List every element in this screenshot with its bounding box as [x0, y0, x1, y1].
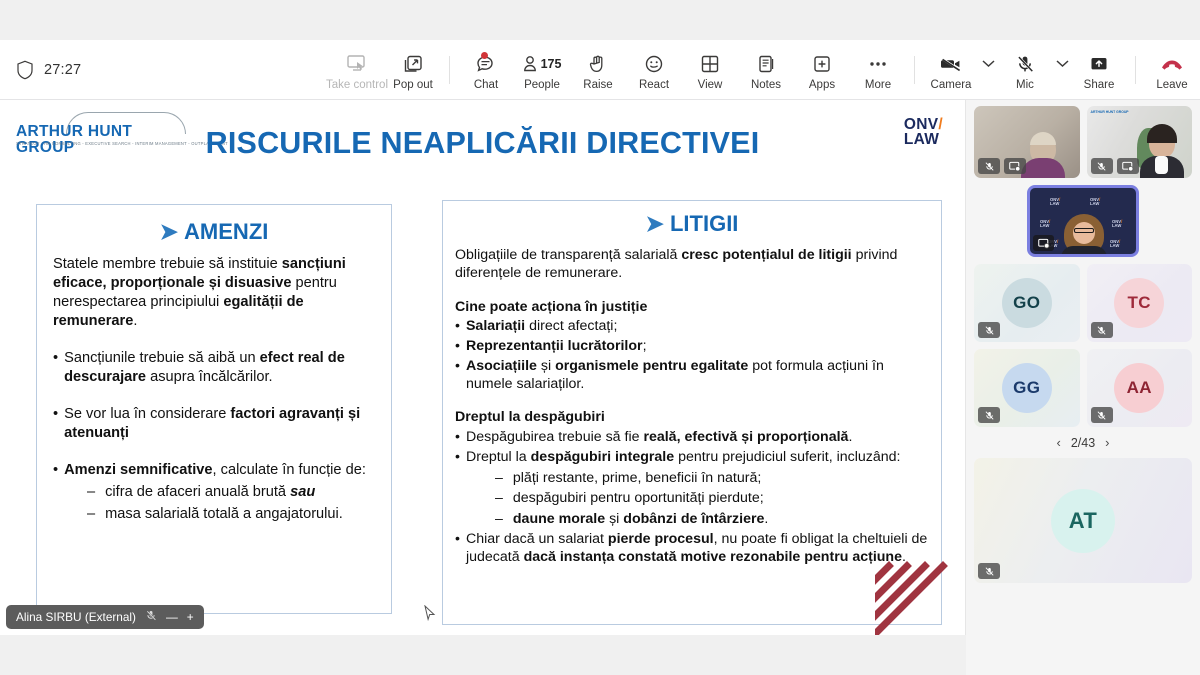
litigii-s2-dash-2: – despăgubiri pentru oportunități pierdu… [455, 490, 929, 508]
seg1: daune morale [513, 511, 605, 527]
amenzi-paragraph-1: Statele membre trebuie să instituie sanc… [53, 255, 375, 331]
participant-video-tile-1[interactable] [974, 106, 1080, 178]
hangup-icon [1159, 52, 1185, 76]
litigii-intro-seg2: cresc potențialul de litigii [681, 247, 851, 263]
spacer-3 [53, 443, 375, 459]
more-label: More [865, 79, 891, 91]
avatar: AA [1114, 363, 1164, 413]
litigii-section-2-title: Dreptul la despăgubiri [455, 409, 929, 427]
take-control-button[interactable]: Take control [329, 48, 385, 91]
litigii-s2-dash-1: – plăți restante, prime, beneficii în na… [455, 470, 929, 488]
more-button[interactable]: More [850, 48, 906, 91]
litigii-s2-b3-text: Chiar dacă un salariat pierde procesul, … [466, 531, 929, 567]
seg2: și [605, 511, 623, 527]
amenzi-sub1-seg1: cifra de afaceri anuală brută [105, 484, 290, 500]
panel-amenzi-heading: ➤AMENZI [53, 219, 375, 245]
amenzi-b3-seg2: , calculate în funcție de: [213, 462, 366, 478]
panel-amenzi-title: AMENZI [184, 219, 268, 244]
people-label: People [524, 79, 560, 91]
litigii-s1-b1-text: Salariații direct afectați; [466, 318, 617, 336]
mic-options-chevron-down-icon[interactable] [1053, 59, 1071, 80]
bullet-dot-icon: • [455, 358, 460, 394]
bullet-dot-icon: • [455, 531, 460, 567]
litigii-s2-bullet-3: • Chiar dacă un salariat pierde procesul… [455, 531, 929, 567]
pop-out-label: Pop out [393, 79, 433, 91]
amenzi-sub1-seg2: sau [290, 484, 315, 500]
amenzi-sub-2: – masa salarială totală a angajatorului. [53, 505, 375, 524]
bullet-dot-icon: • [455, 318, 460, 336]
spacer-2 [53, 387, 375, 403]
amenzi-sub2-text: masa salarială totală a angajatorului. [105, 505, 343, 524]
avatar: GO [1002, 278, 1052, 328]
mic-button[interactable]: Mic [997, 48, 1053, 91]
apps-label: Apps [809, 79, 835, 91]
chat-label: Chat [474, 79, 498, 91]
camera-off-icon [939, 52, 963, 76]
bullet-dot-icon: • [53, 461, 58, 480]
bullet-dot-icon: • [455, 338, 460, 356]
amenzi-bullet-2: • Se vor lua în considerare factori agra… [53, 405, 375, 443]
amenzi-sub-1: – cifra de afaceri anuală brută sau [53, 483, 375, 502]
raise-hand-button[interactable]: Raise [570, 48, 626, 91]
seg2: și [537, 358, 555, 374]
participant-tile-aa[interactable]: AA [1087, 349, 1193, 427]
panel-amenzi: ➤AMENZI Statele membre trebuie să instit… [36, 204, 392, 614]
grid-view-icon [700, 52, 720, 76]
litigii-s2-dash-3: – daune morale și dobânzi de întârziere. [455, 511, 929, 529]
zoom-in-button[interactable]: + [187, 610, 194, 624]
amenzi-b1-seg1: Sancțiunile trebuie să aibă un [64, 350, 260, 366]
seg3: organismele pentru egalitate [555, 358, 748, 374]
teams-meeting-window: 27:27 Take control Pop out [0, 0, 1200, 675]
pin-video-icon[interactable] [1004, 158, 1026, 174]
litigii-s2-bullet-2: • Dreptul la despăgubiri integrale pentr… [455, 449, 929, 467]
seg1: Salariații [466, 318, 525, 334]
participant-video-tile-2[interactable]: ARTHUR HUNT GROUP [1087, 106, 1193, 178]
seg3: dobânzi de întârziere [623, 511, 764, 527]
leave-label: Leave [1156, 79, 1187, 91]
spacer-4 [455, 283, 929, 299]
presentation-slide: ARTHUR HUNT GROUP STRATEGY - HR CONSULTI… [0, 100, 965, 635]
leave-button[interactable]: Leave [1144, 48, 1200, 91]
notes-label: Notes [751, 79, 781, 91]
arrow-bullet-icon: ➤ [160, 219, 178, 244]
litigii-s2-bullet-1: • Despăgubirea trebuie să fie reală, efe… [455, 429, 929, 447]
amenzi-p1-seg1: Statele membre trebuie să instituie [53, 256, 282, 272]
participants-roster[interactable]: ARTHUR HUNT GROUP ONV/LAW ONV/LAW ONV/LA… [966, 100, 1200, 675]
dash-bullet-icon: – [495, 470, 503, 488]
litigii-s1-bullet-3: • Asociațiile și organismele pentru egal… [455, 358, 929, 394]
pin-video-icon[interactable] [1117, 158, 1139, 174]
zoom-out-button[interactable]: — [166, 610, 178, 624]
spacer-5 [455, 393, 929, 409]
litigii-s1-bullet-2: • Reprezentanții lucrătorilor; [455, 338, 929, 356]
amenzi-bullet-3: • Amenzi semnificative, calculate în fun… [53, 461, 375, 480]
camera-label: Camera [931, 79, 972, 91]
seg3: pentru prejudiciul suferit, incluzând: [674, 449, 900, 465]
people-count: 175 [541, 57, 562, 71]
amenzi-bullet-1: • Sancțiunile trebuie să aibă un efect r… [53, 349, 375, 387]
amenzi-b2-text: Se vor lua în considerare factori agrava… [64, 405, 375, 443]
litigii-s2-d1-text: plăți restante, prime, beneficii în natu… [513, 470, 761, 488]
people-button[interactable]: 175 People [514, 48, 570, 91]
avatar-tile-grid: GO TC GG AA [974, 264, 1192, 427]
avatar: AT [1051, 489, 1115, 553]
more-ellipsis-icon [867, 52, 889, 76]
litigii-s1-b3-text: Asociațiile și organismele pentru egalit… [466, 358, 929, 394]
amenzi-b2-seg1: Se vor lua în considerare [64, 406, 230, 422]
mic-off-icon [978, 407, 1000, 423]
seg4: . [764, 511, 768, 527]
people-icon: 175 [523, 52, 562, 76]
self-video-tile[interactable]: ONV/LAW ONV/LAW ONV/LAW ONV/LAW ONV/LAW … [1027, 185, 1139, 257]
toolbar-left-group: 27:27 [0, 60, 329, 80]
litigii-section-1-title: Cine poate acționa în justiție [455, 299, 929, 317]
bullet-dot-icon: • [455, 429, 460, 447]
bullet-dot-icon: • [455, 449, 460, 467]
seg2: pierde procesul [608, 531, 714, 547]
spacer-1 [53, 331, 375, 347]
toolbar-center-group: Take control Pop out Chat 175 [329, 48, 1200, 91]
view-button[interactable]: View [682, 48, 738, 91]
litigii-s2-b2-text: Dreptul la despăgubiri integrale pentru … [466, 449, 901, 467]
mic-off-icon [1015, 52, 1035, 76]
participant-tile-go[interactable]: GO [974, 264, 1080, 342]
amenzi-sub1-text: cifra de afaceri anuală brută sau [105, 483, 315, 502]
bullet-dot-icon: • [53, 405, 58, 443]
pager-prev-button[interactable]: ‹ [1056, 435, 1060, 450]
dash-bullet-icon: – [87, 483, 95, 502]
dash-bullet-icon: – [495, 490, 503, 508]
seg2: ; [643, 338, 647, 354]
mouse-cursor-icon [424, 605, 436, 621]
mic-off-icon [1091, 158, 1113, 174]
pin-video-icon[interactable] [1033, 235, 1054, 251]
presenter-name: Alina SIRBU (External) [16, 610, 136, 624]
litigii-s2-title: Dreptul la despăgubiri [455, 409, 605, 425]
chat-button[interactable]: Chat [458, 48, 514, 91]
featured-participant-tile[interactable]: AT [974, 458, 1192, 583]
amenzi-b1-text: Sancțiunile trebuie să aibă un efect rea… [64, 349, 375, 387]
raise-hand-icon [588, 52, 608, 76]
react-smiley-icon [644, 52, 664, 76]
bullet-dot-icon: • [53, 349, 58, 387]
seg1: Chiar dacă un salariat [466, 531, 608, 547]
seg1: Asociațiile [466, 358, 537, 374]
seg3: . [848, 429, 852, 445]
apps-button[interactable]: Apps [794, 48, 850, 91]
camera-button[interactable]: Camera [923, 48, 979, 91]
view-label: View [698, 79, 723, 91]
participant-tile-tc[interactable]: TC [1087, 264, 1193, 342]
slide-stripes-decoration [875, 555, 965, 635]
mic-off-icon [978, 158, 1000, 174]
amenzi-b3-text: Amenzi semnificative, calculate în funcț… [64, 461, 366, 480]
notes-button[interactable]: Notes [738, 48, 794, 91]
mic-off-icon [978, 322, 1000, 338]
litigii-s1-b2-text: Reprezentanții lucrătorilor; [466, 338, 647, 356]
mic-off-icon [145, 609, 157, 625]
litigii-s1-bullet-1: • Salariații direct afectați; [455, 318, 929, 336]
share-label: Share [1084, 79, 1115, 91]
seg1: Reprezentanții lucrătorilor [466, 338, 643, 354]
dash-bullet-icon: – [495, 511, 503, 529]
roster-pager: ‹ 2/43 › [974, 435, 1192, 450]
screen-control-icon [346, 52, 368, 76]
panel-litigii: ➤LITIGII Obligațiile de transparență sal… [442, 200, 942, 625]
litigii-s2-d3-text: daune morale și dobânzi de întârziere. [513, 511, 768, 529]
share-button[interactable]: Share [1071, 48, 1127, 91]
dash-bullet-icon: – [87, 505, 95, 524]
litigii-s2-d2-text: despăgubiri pentru oportunități pierdute… [513, 490, 764, 508]
share-up-arrow-icon [1088, 52, 1110, 76]
mic-off-icon [1091, 407, 1113, 423]
react-button[interactable]: React [626, 48, 682, 91]
toolbar-divider-3 [1135, 56, 1136, 84]
seg2: reală, efectivă și proporțională [643, 429, 848, 445]
video-tile-row: ARTHUR HUNT GROUP [974, 106, 1192, 178]
arrow-bullet-icon: ➤ [646, 211, 664, 236]
participant-tile-gg[interactable]: GG [974, 349, 1080, 427]
panel-litigii-heading: ➤LITIGII [455, 211, 929, 237]
shield-icon [16, 60, 34, 80]
litigii-intro: Obligațiile de transparență salarială cr… [455, 247, 929, 283]
seg2: direct afectați; [525, 318, 617, 334]
mic-label: Mic [1016, 79, 1034, 91]
seg1: Dreptul la [466, 449, 531, 465]
toolbar-divider-1 [449, 56, 450, 84]
litigii-intro-seg1: Obligațiile de transparență salarială [455, 247, 681, 263]
apps-plus-icon [812, 52, 832, 76]
litigii-s1-title: Cine poate acționa în justiție [455, 299, 647, 315]
mic-off-icon [1091, 322, 1113, 338]
amenzi-b3-seg1: Amenzi semnificative [64, 462, 212, 478]
pop-out-icon [403, 52, 423, 76]
slide-title: RISCURILE NEAPLICĂRII DIRECTIVEI [0, 126, 965, 161]
amenzi-b1-seg3: asupra încălcărilor. [146, 369, 273, 385]
pager-next-button[interactable]: › [1105, 435, 1109, 450]
seg2: despăgubiri integrale [531, 449, 674, 465]
meeting-toolbar: 27:27 Take control Pop out [0, 40, 1200, 100]
presenter-name-pill[interactable]: Alina SIRBU (External) — + [6, 605, 204, 629]
avatar: GG [1002, 363, 1052, 413]
take-control-label: Take control [326, 79, 388, 91]
chat-unread-badge [481, 52, 488, 59]
litigii-s2-b1-text: Despăgubirea trebuie să fie reală, efect… [466, 429, 852, 447]
seg1: Despăgubirea trebuie să fie [466, 429, 643, 445]
seg4: dacă instanța constată motive rezonabile… [524, 549, 902, 565]
shared-content-stage[interactable]: ARTHUR HUNT GROUP STRATEGY - HR CONSULTI… [0, 100, 966, 635]
notes-icon [756, 52, 776, 76]
chat-icon [475, 52, 497, 76]
pop-out-button[interactable]: Pop out [385, 48, 441, 91]
react-label: React [639, 79, 669, 91]
meeting-timer: 27:27 [44, 62, 81, 78]
mic-off-icon [978, 563, 1000, 579]
panel-litigii-title: LITIGII [670, 211, 738, 236]
pager-label: 2/43 [1071, 436, 1095, 450]
avatar: TC [1114, 278, 1164, 328]
raise-label: Raise [583, 79, 612, 91]
camera-options-chevron-down-icon[interactable] [979, 59, 997, 80]
toolbar-divider-2 [914, 56, 915, 84]
amenzi-p1-seg5: . [133, 313, 137, 329]
